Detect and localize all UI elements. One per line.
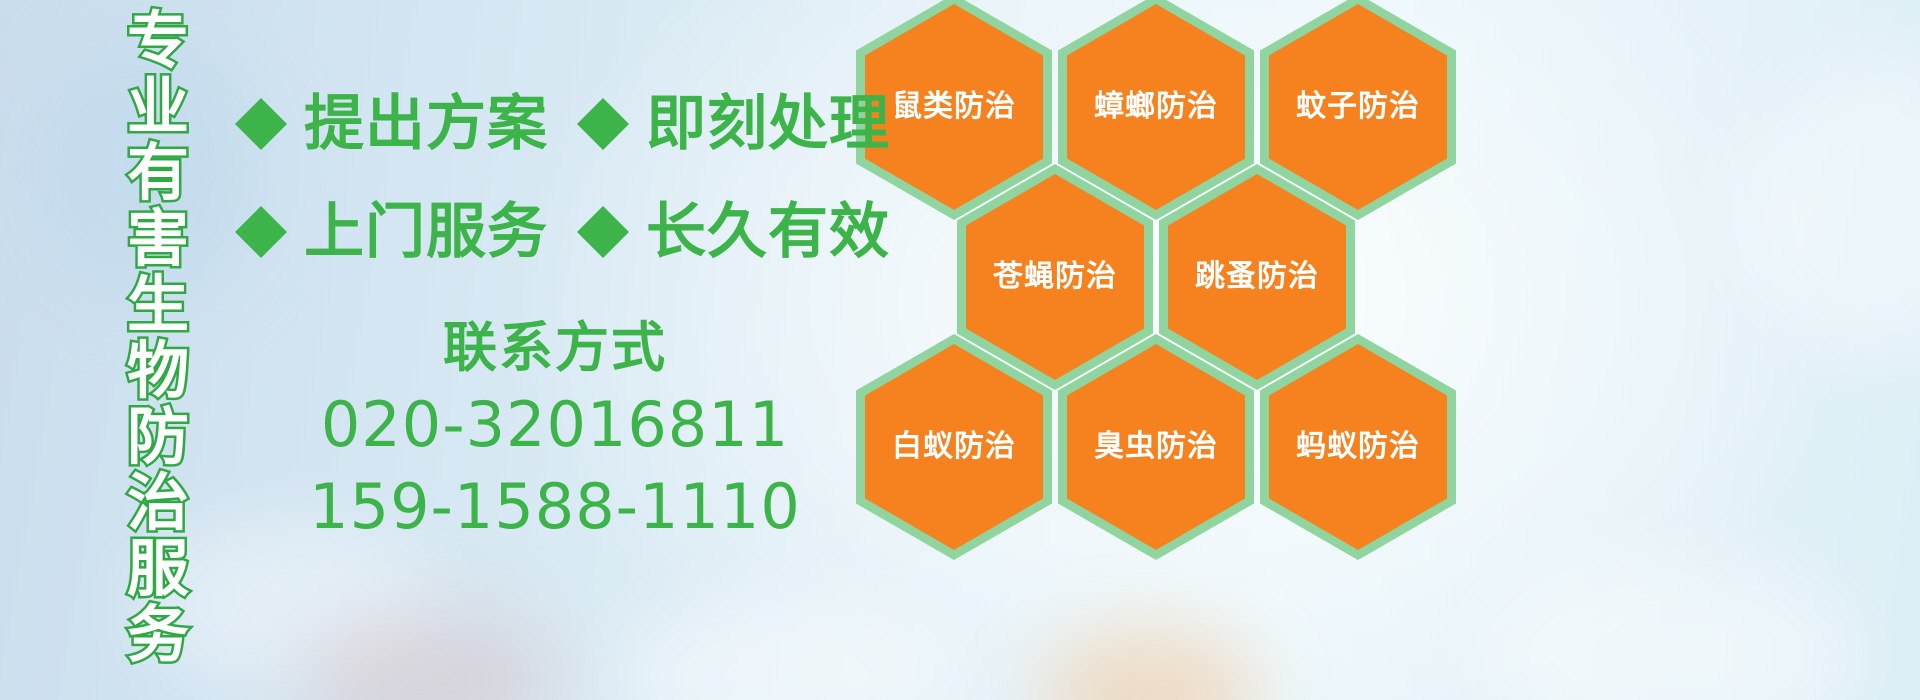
vertical-headline: 专 业 有 害 生 物 防 治 服 务 [110, 8, 206, 692]
contact-phone-landline[interactable]: 020-32016811 [300, 384, 810, 466]
contact-block: 联系方式 020-32016811 159-1588-1110 [300, 312, 810, 548]
slogan-item: 长久有效 [574, 196, 916, 268]
background-blob [1740, 60, 1920, 360]
service-hexagon-label: 蟑螂防治 [1094, 90, 1218, 124]
diamond-bullet-icon [232, 203, 290, 261]
service-hexagon-label: 苍蝇防治 [993, 260, 1117, 294]
slogan-row: 提出方案 即刻处理 [232, 88, 916, 160]
vertical-headline-char: 防 [127, 404, 189, 470]
slogan-label: 即刻处理 [646, 88, 890, 160]
service-hexagon-label: 蚊子防治 [1296, 90, 1420, 124]
slogan-item: 提出方案 [232, 88, 574, 160]
vertical-headline-char: 有 [127, 140, 189, 206]
vertical-headline-char: 物 [127, 338, 189, 404]
vertical-headline-char: 治 [127, 470, 189, 536]
service-hexagon-label: 白蚁防治 [892, 430, 1016, 464]
vertical-headline-char: 生 [127, 272, 189, 338]
slogan-label: 上门服务 [304, 196, 548, 268]
diamond-bullet-icon [574, 95, 632, 153]
diamond-bullet-icon [574, 203, 632, 261]
diamond-bullet-icon [232, 95, 290, 153]
background-blob [1040, 630, 1260, 700]
vertical-headline-char: 服 [127, 536, 189, 602]
background-blob [1480, 560, 1860, 700]
service-hexagon-label: 跳蚤防治 [1195, 260, 1319, 294]
vertical-headline-char: 务 [127, 602, 189, 668]
contact-heading: 联系方式 [300, 312, 810, 384]
service-hexagon-label: 臭虫防治 [1094, 430, 1218, 464]
background-blob [300, 610, 560, 700]
slogan-item: 即刻处理 [574, 88, 916, 160]
slogan-label: 长久有效 [646, 196, 890, 268]
vertical-headline-char: 专 [127, 8, 189, 74]
vertical-headline-char: 业 [127, 74, 189, 140]
vertical-headline-char: 害 [127, 206, 189, 272]
contact-phone-mobile[interactable]: 159-1588-1110 [300, 466, 810, 548]
slogan-label: 提出方案 [304, 88, 548, 160]
slogan-item: 上门服务 [232, 196, 574, 268]
service-hexagon-label: 蚂蚁防治 [1296, 430, 1420, 464]
background-blob [620, 600, 950, 700]
service-honeycomb: 鼠类防治 蟑螂防治 蚊子防治 苍蝇防治 跳蚤防治 白蚁防治 臭虫防治 [856, 0, 1476, 562]
pest-control-banner: 专 业 有 害 生 物 防 治 服 务 提出方案 即刻处理 上门 [0, 0, 1920, 700]
slogan-row: 上门服务 长久有效 [232, 196, 916, 268]
